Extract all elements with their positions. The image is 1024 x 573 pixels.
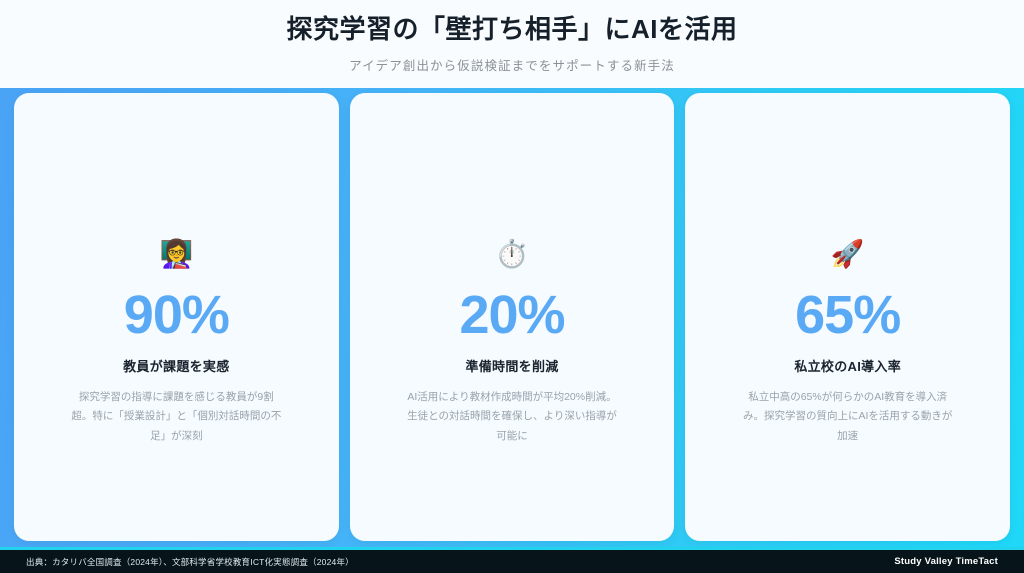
stopwatch-icon: ⏱️ <box>495 238 529 270</box>
stat-description: 探究学習の指導に課題を感じる教員が9割超。特に「授業設計」と「個別対話時間の不足… <box>69 388 284 446</box>
stat-value: 90% <box>124 288 229 342</box>
stat-card-3[interactable]: 🚀 65% 私立校のAI導入率 私立中高の65%が何らかのAI教育を導入済み。探… <box>685 93 1010 541</box>
stat-description: 私立中高の65%が何らかのAI教育を導入済み。探究学習の質向上にAIを活用する動… <box>740 388 955 446</box>
rocket-icon: 🚀 <box>831 238 865 270</box>
stat-label: 私立校のAI導入率 <box>794 356 901 375</box>
page-footer: 出典：カタリバ全国調査（2024年）、文部科学省学校教育ICT化実態調査（202… <box>0 547 1024 573</box>
stat-description: AI活用により教材作成時間が平均20%削減。生徒との対話時間を確保し、より深い指… <box>405 388 620 446</box>
stats-band: 👩‍🏫 90% 教員が課題を実感 探究学習の指導に課題を感じる教員が9割超。特に… <box>0 88 1024 547</box>
page-subtitle: アイデア創出から仮説検証までをサポートする新手法 <box>0 55 1024 74</box>
page-header: 探究学習の「壁打ち相手」にAIを活用 アイデア創出から仮説検証までをサポートする… <box>0 0 1024 88</box>
source-citation: 出典：カタリバ全国調査（2024年）、文部科学省学校教育ICT化実態調査（202… <box>26 556 354 568</box>
stat-card-2[interactable]: ⏱️ 20% 準備時間を削減 AI活用により教材作成時間が平均20%削減。生徒と… <box>350 93 675 541</box>
stat-label: 教員が課題を実感 <box>123 356 229 375</box>
stat-value: 65% <box>795 288 900 342</box>
stat-value: 20% <box>459 288 564 342</box>
stat-card-1[interactable]: 👩‍🏫 90% 教員が課題を実感 探究学習の指導に課題を感じる教員が9割超。特に… <box>14 93 339 541</box>
teacher-icon: 👩‍🏫 <box>160 238 194 270</box>
stat-label: 準備時間を削減 <box>465 356 558 375</box>
page-title: 探究学習の「壁打ち相手」にAIを活用 <box>0 13 1024 46</box>
brand-name: Study Valley TimeTact <box>894 556 998 567</box>
